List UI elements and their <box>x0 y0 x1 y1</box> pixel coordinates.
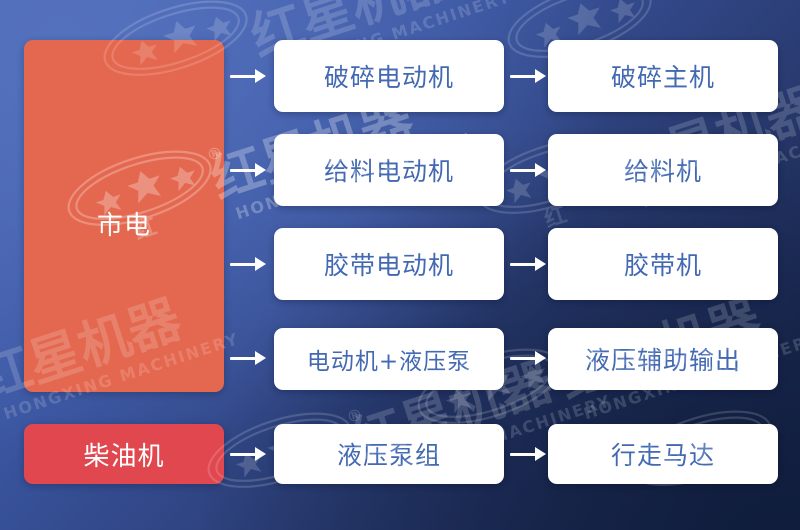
arrow-shaft <box>510 357 536 360</box>
arrow-shaft <box>510 75 536 78</box>
flowchart-canvas: 红 ® 红星机器 HONGXING MACHINERY <box>0 0 800 530</box>
arrow-head <box>535 163 546 177</box>
process-node-middle-3[interactable]: 胶带电动机 <box>274 228 504 300</box>
arrow-right-icon <box>510 252 546 276</box>
arrow-right-icon <box>510 64 546 88</box>
arrow-head <box>255 163 266 177</box>
arrow-shaft <box>230 453 256 456</box>
arrow-shaft <box>230 75 256 78</box>
arrow-right-icon <box>230 252 266 276</box>
process-node-middle-2[interactable]: 给料电动机 <box>274 134 504 206</box>
arrow-head <box>535 351 546 365</box>
arrow-head <box>255 69 266 83</box>
arrow-shaft <box>230 357 256 360</box>
arrow-shaft <box>230 263 256 266</box>
arrow-right-icon <box>230 442 266 466</box>
arrow-right-icon <box>230 158 266 182</box>
process-node-right-1[interactable]: 破碎主机 <box>548 40 778 112</box>
arrow-head <box>255 257 266 271</box>
process-node-middle-1[interactable]: 破碎电动机 <box>274 40 504 112</box>
arrow-shaft <box>230 169 256 172</box>
arrow-head <box>535 447 546 461</box>
arrow-right-icon <box>230 64 266 88</box>
process-node-right-2[interactable]: 给料机 <box>548 134 778 206</box>
process-node-right-3[interactable]: 胶带机 <box>548 228 778 300</box>
arrow-right-icon <box>510 158 546 182</box>
arrow-right-icon <box>510 346 546 370</box>
process-node-right-4[interactable]: 液压辅助输出 <box>548 328 778 390</box>
arrow-head <box>255 351 266 365</box>
arrow-head <box>535 257 546 271</box>
process-node-right-5[interactable]: 行走马达 <box>548 424 778 484</box>
arrow-right-icon <box>230 346 266 370</box>
arrow-shaft <box>510 169 536 172</box>
arrow-head <box>535 69 546 83</box>
arrow-head <box>255 447 266 461</box>
process-node-middle-4[interactable]: 电动机+液压泵 <box>274 328 504 390</box>
process-node-middle-5[interactable]: 液压泵组 <box>274 424 504 484</box>
source-node-mains[interactable]: 市电 <box>24 40 224 392</box>
arrow-shaft <box>510 263 536 266</box>
flow-nodes: 市电 柴油机 破碎电动机 破碎主机 给料电动机 给料机 胶带电动机 <box>0 0 800 530</box>
arrow-right-icon <box>510 442 546 466</box>
source-node-diesel[interactable]: 柴油机 <box>24 424 224 484</box>
arrow-shaft <box>510 453 536 456</box>
